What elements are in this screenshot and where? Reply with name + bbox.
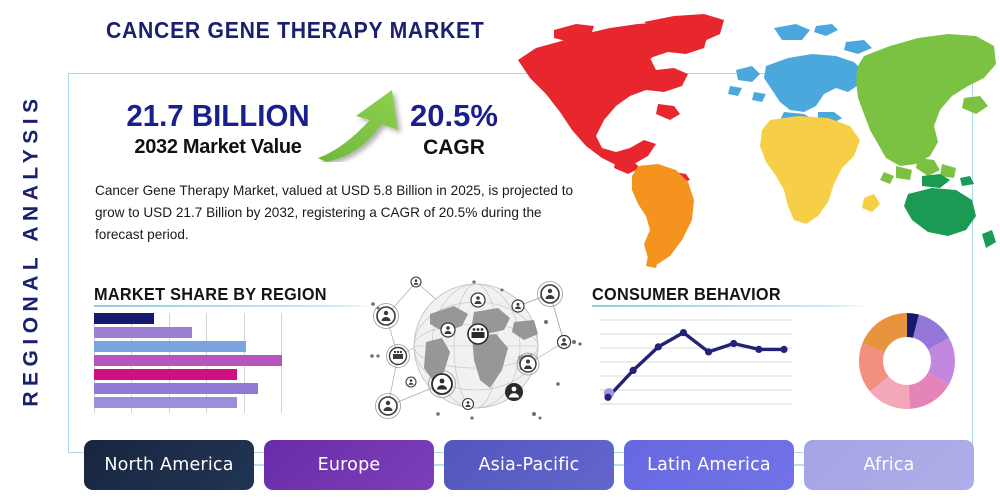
growth-arrow-icon [312, 86, 404, 162]
side-label-text: REGIONAL ANALYSIS [20, 93, 44, 406]
line-marker [755, 346, 762, 353]
bar-row [94, 369, 282, 380]
consumer-behavior-line-chart [598, 312, 794, 414]
line-marker [630, 367, 637, 374]
bar-segment [94, 369, 237, 380]
bar-row [94, 355, 282, 366]
side-label-regional-analysis: REGIONAL ANALYSIS [0, 0, 64, 500]
region-button-label: Asia-Pacific [478, 455, 579, 475]
bar-segment [94, 327, 192, 338]
line-marker [780, 346, 787, 353]
line-marker [730, 340, 737, 347]
region-button-label: Africa [863, 455, 914, 475]
region-button-latin-america[interactable]: Latin America [624, 440, 794, 490]
consumer-behavior-underline [592, 305, 870, 307]
bar-row [94, 341, 282, 352]
region-button-north-america[interactable]: North America [84, 440, 254, 490]
kpi-market-value-caption: 2032 Market Value [118, 136, 318, 159]
kpi-market-value-number: 21.7 BILLION [123, 98, 313, 134]
regional-donut-chart [856, 310, 958, 412]
region-button-europe[interactable]: Europe [264, 440, 434, 490]
bar-segment [94, 313, 154, 324]
kpi-market-value: 21.7 BILLION 2032 Market Value [118, 98, 318, 159]
region-connector [794, 464, 804, 466]
bar-row [94, 327, 282, 338]
region-button-label: North America [104, 455, 233, 475]
region-button-africa[interactable]: Africa [804, 440, 974, 490]
line-marker [604, 394, 611, 401]
market-share-bar-chart [94, 313, 282, 413]
world-map-icon [498, 8, 1000, 270]
line-marker [680, 329, 687, 336]
region-connector [434, 464, 444, 466]
bar-segment [94, 397, 237, 408]
region-connector [614, 464, 624, 466]
region-button-asia-pacific[interactable]: Asia-Pacific [444, 440, 614, 490]
bar-row [94, 313, 282, 324]
market-share-heading: MARKET SHARE BY REGION [94, 284, 327, 305]
region-button-row: North AmericaEuropeAsia-PacificLatin Ame… [84, 440, 974, 490]
global-network-globe-icon [368, 264, 590, 426]
bar-row [94, 383, 282, 394]
bar-segment [94, 355, 282, 366]
bar-row [94, 397, 282, 408]
region-button-label: Europe [318, 455, 381, 475]
bar-segment [94, 341, 246, 352]
line-marker [655, 343, 662, 350]
region-connector [254, 464, 264, 466]
consumer-behavior-heading: CONSUMER BEHAVIOR [592, 284, 781, 305]
page-title: CANCER GENE THERAPY MARKET [106, 17, 485, 44]
line-marker [705, 348, 712, 355]
region-button-label: Latin America [647, 455, 771, 475]
bar-segment [94, 383, 258, 394]
market-share-underline [94, 305, 378, 307]
